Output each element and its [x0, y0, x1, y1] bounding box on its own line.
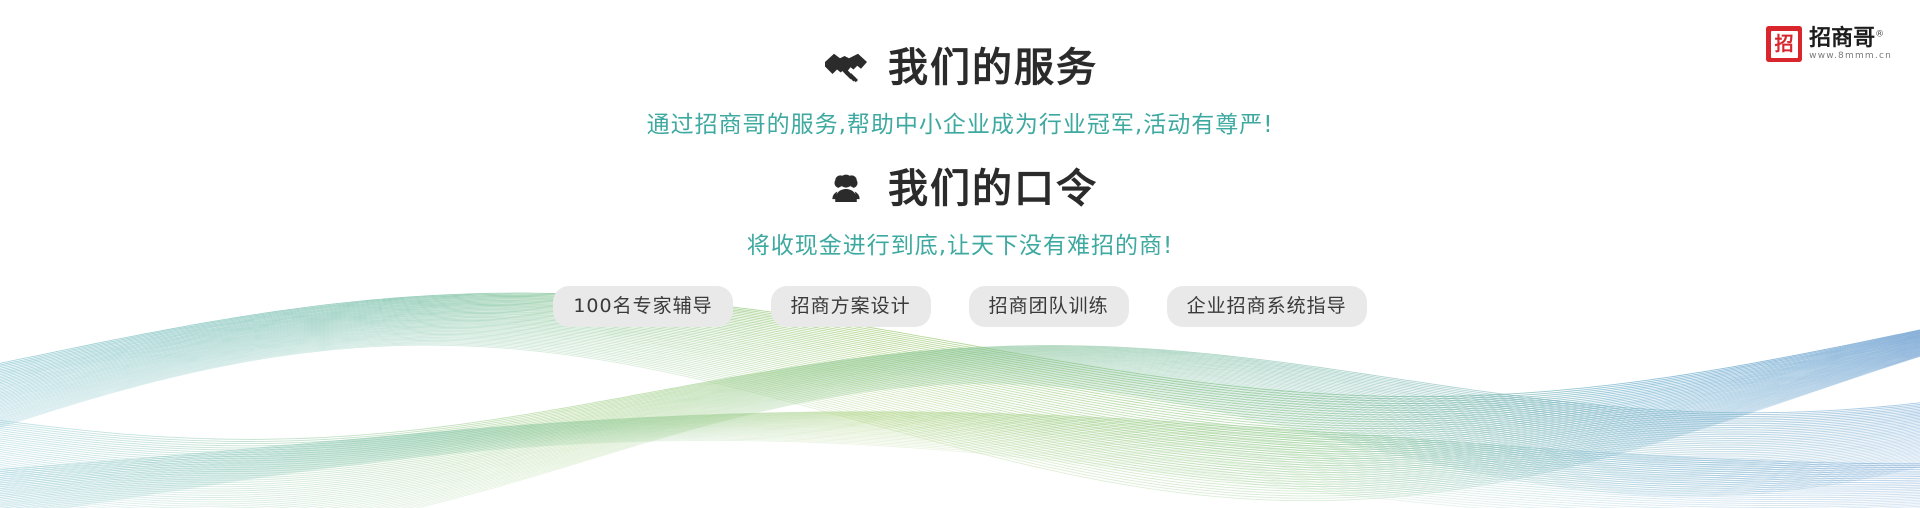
service-tag[interactable]: 招商团队训练: [969, 286, 1129, 327]
heading-text-motto: 我们的口令: [888, 169, 1098, 209]
service-tag[interactable]: 企业招商系统指导: [1167, 286, 1367, 327]
subtitle-motto: 将收现金进行到底,让天下没有难招的商!: [747, 235, 1174, 258]
service-tag[interactable]: 招商方案设计: [771, 286, 931, 327]
service-tag-list: 100名专家辅导 招商方案设计 招商团队训练 企业招商系统指导: [553, 286, 1366, 327]
heading-text-services: 我们的服务: [888, 48, 1098, 88]
users-icon: [822, 165, 870, 213]
service-tag[interactable]: 100名专家辅导: [553, 286, 732, 327]
banner-content: 我们的服务 通过招商哥的服务,帮助中小企业成为行业冠军,活动有尊严! 我们的口令…: [0, 0, 1920, 327]
banner-stage: 招 招商哥® www.8mmm.cn 我们的服务 通过: [0, 0, 1920, 508]
handshake-icon: [822, 44, 870, 92]
subtitle-services: 通过招商哥的服务,帮助中小企业成为行业冠军,活动有尊严!: [647, 114, 1274, 137]
section-heading-services: 我们的服务: [822, 44, 1098, 92]
section-heading-motto: 我们的口令: [822, 165, 1098, 213]
